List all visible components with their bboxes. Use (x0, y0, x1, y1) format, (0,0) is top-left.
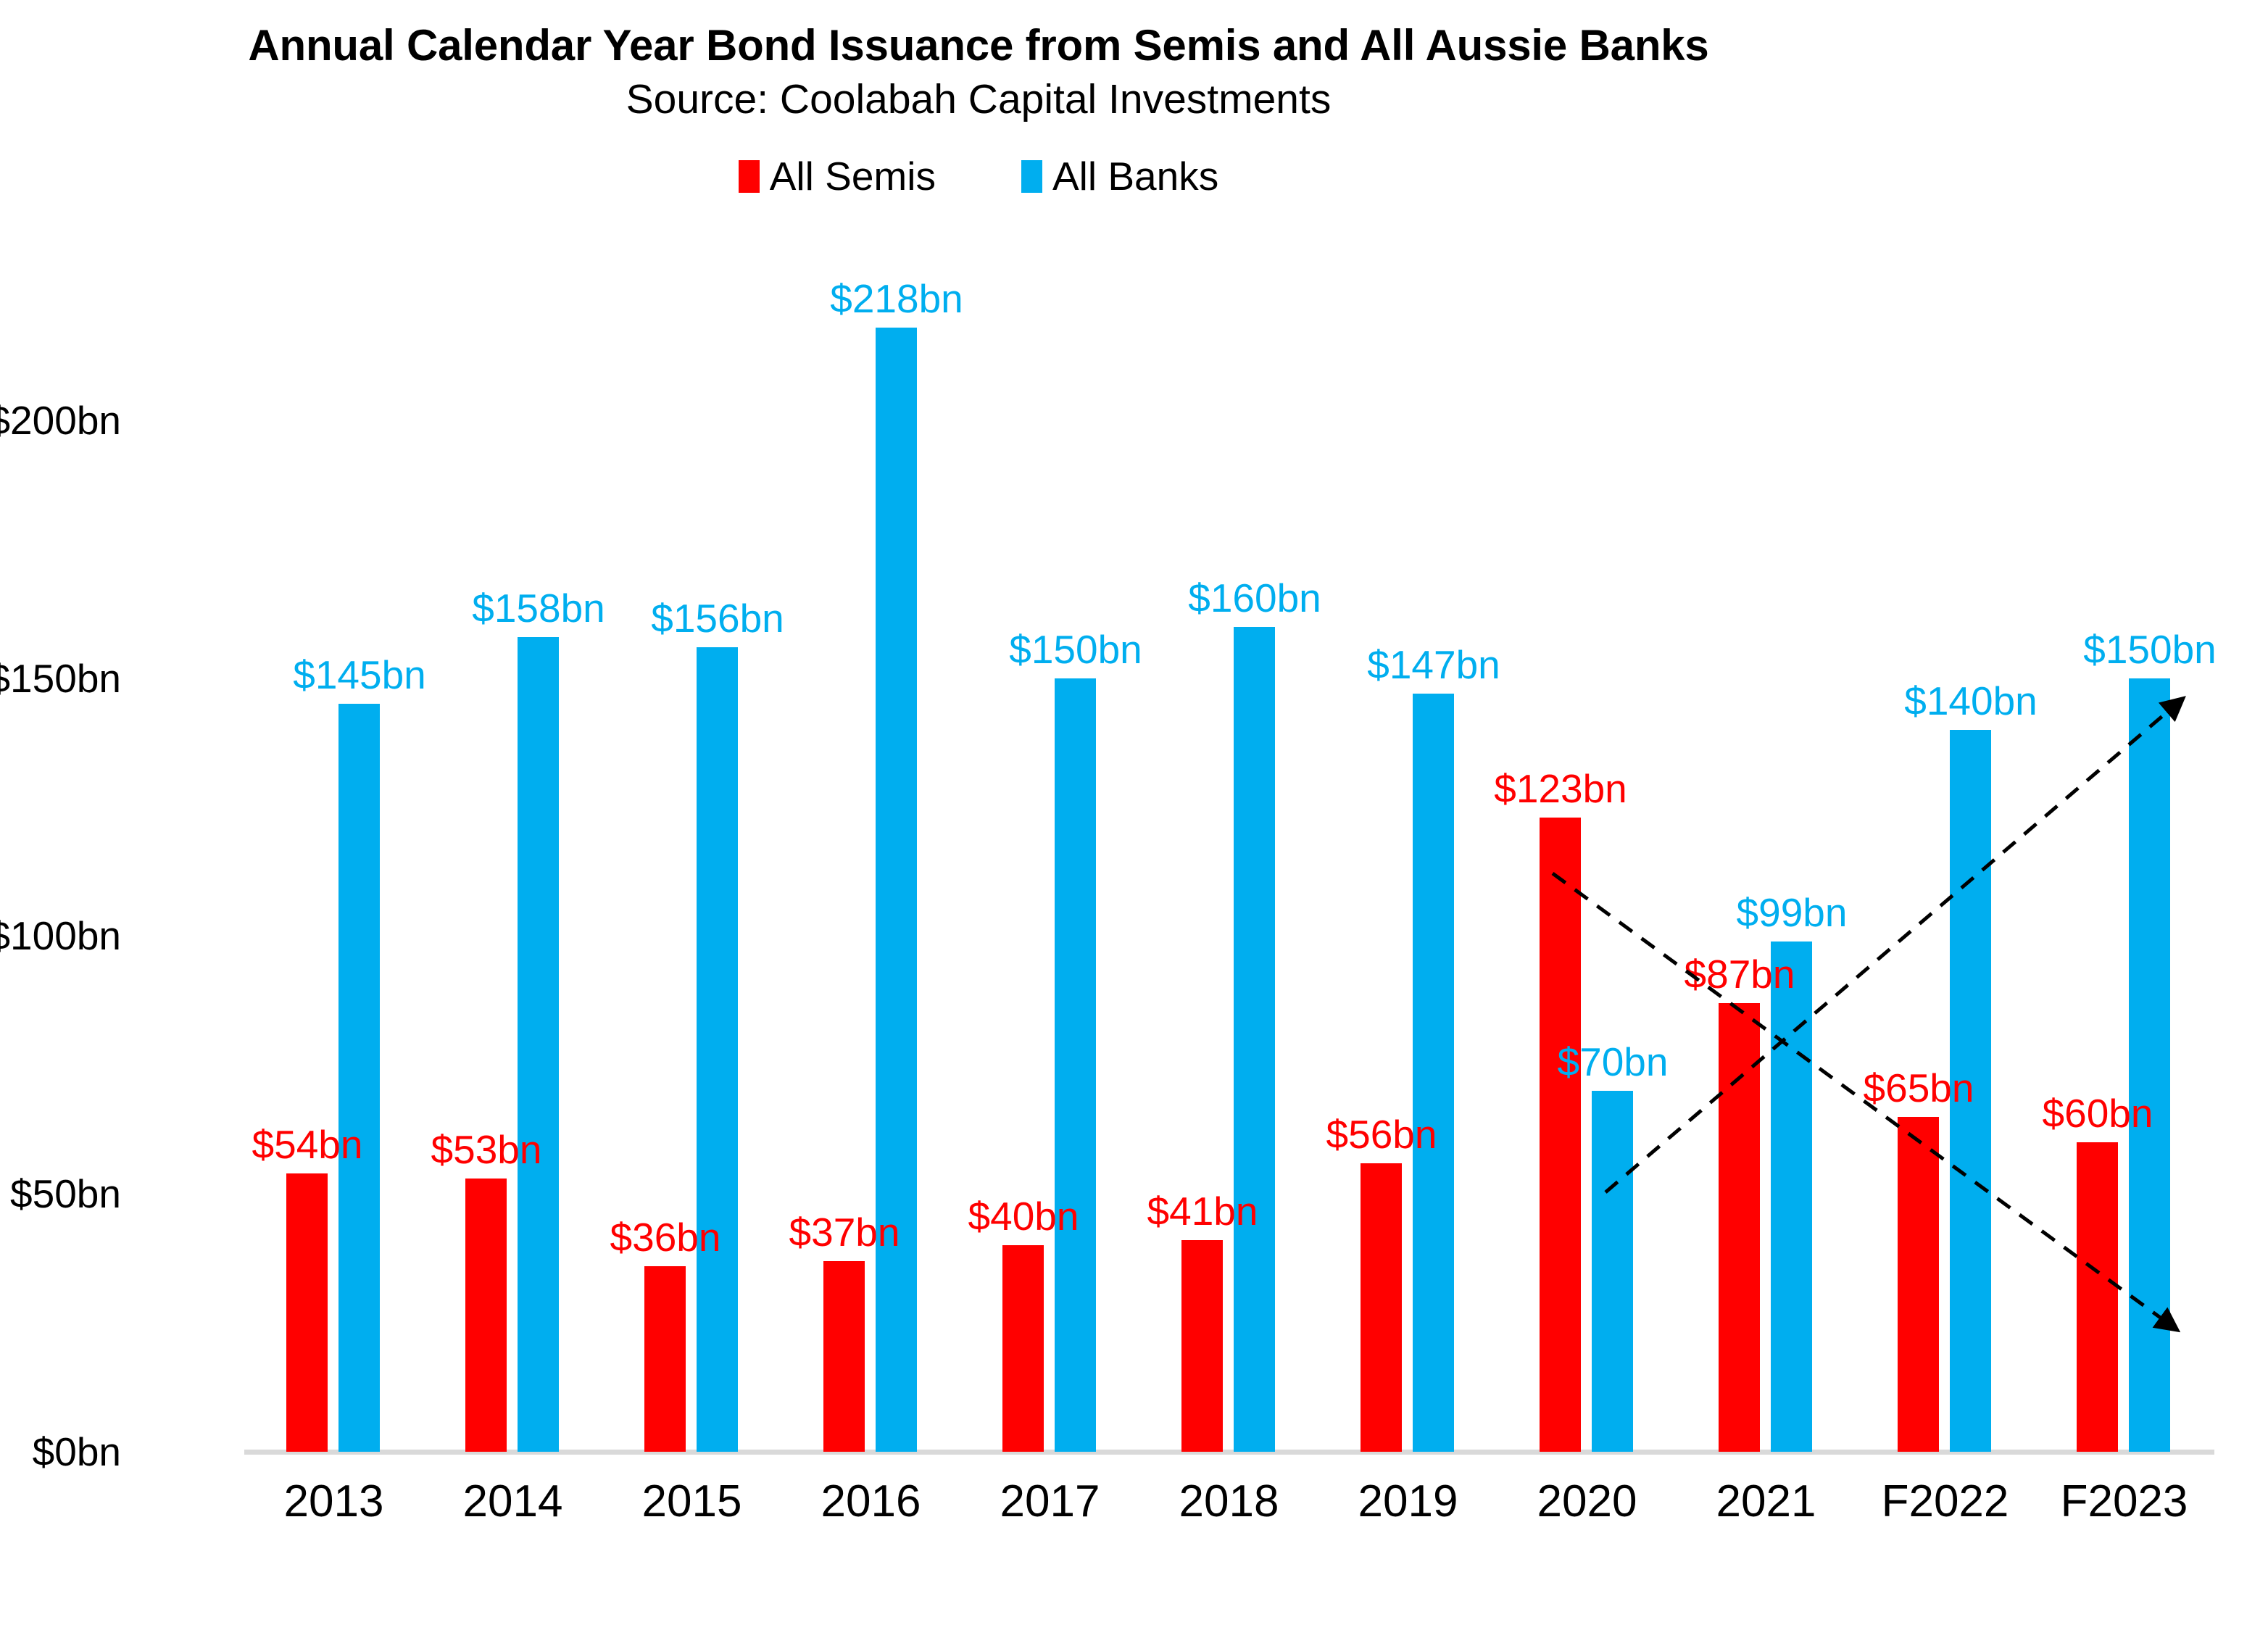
y-tick-50: $50bn (0, 1174, 121, 1214)
bar-banks-f2023[interactable] (2129, 678, 2170, 1452)
bar-banks-2018[interactable] (1234, 627, 1275, 1452)
x-tick-2017: 2017 (960, 1479, 1139, 1524)
bar-group-2013: $54bn $145bn (244, 420, 423, 1452)
bar-semis-2020[interactable] (1540, 818, 1581, 1452)
bar-semis-2014[interactable] (465, 1179, 507, 1452)
bar-semis-2013[interactable] (286, 1173, 328, 1452)
bar-label-semis-2018: $41bn (1108, 1192, 1297, 1231)
bar-banks-2013[interactable] (338, 704, 380, 1452)
chart-page: Annual Calendar Year Bond Issuance from … (0, 0, 2268, 1646)
bar-group-f2023: $60bn $150bn (2035, 420, 2214, 1452)
x-tick-2020: 2020 (1498, 1479, 1677, 1524)
bar-group-2015: $36bn $156bn (602, 420, 781, 1452)
bar-label-semis-2019: $56bn (1287, 1115, 1476, 1155)
bar-label-semis-f2022: $65bn (1824, 1068, 2013, 1108)
bar-group-2018: $41bn $160bn (1139, 420, 1318, 1452)
bar-label-semis-2021: $87bn (1645, 955, 1834, 994)
bar-group-2017: $40bn $150bn (960, 420, 1139, 1452)
bar-banks-2015[interactable] (697, 647, 738, 1452)
x-tick-2021: 2021 (1677, 1479, 1856, 1524)
bar-label-semis-2014: $53bn (392, 1130, 581, 1170)
bar-banks-2014[interactable] (518, 637, 559, 1452)
bar-banks-2020[interactable] (1592, 1091, 1633, 1452)
bar-banks-2016[interactable] (876, 328, 917, 1452)
y-tick-150: $150bn (0, 659, 121, 699)
bar-label-semis-2020: $123bn (1466, 769, 1655, 809)
plot-area: $0bn $50bn $100bn $150bn $200bn $54bn $1… (0, 0, 2268, 1646)
bar-group-2019: $56bn $147bn (1318, 420, 1498, 1452)
x-tick-2014: 2014 (423, 1479, 602, 1524)
bar-group-2014: $53bn $158bn (423, 420, 602, 1452)
bar-label-semis-2013: $54bn (213, 1125, 402, 1165)
bar-semis-2021[interactable] (1719, 1003, 1760, 1452)
x-tick-2013: 2013 (244, 1479, 423, 1524)
bar-group-2020: $123bn $70bn (1498, 420, 1677, 1452)
bar-label-semis-f2023: $60bn (2003, 1094, 2192, 1134)
bar-semis-2018[interactable] (1181, 1240, 1223, 1452)
bar-banks-2017[interactable] (1055, 678, 1096, 1452)
bar-group-f2022: $65bn $140bn (1856, 420, 2035, 1452)
bar-semis-2019[interactable] (1361, 1163, 1402, 1452)
bar-semis-2015[interactable] (644, 1266, 686, 1452)
bar-label-semis-2017: $40bn (929, 1197, 1118, 1236)
bar-group-2016: $37bn $218bn (781, 420, 960, 1452)
bar-label-banks-2016: $218bn (802, 279, 991, 319)
bar-group-2021: $87bn $99bn (1677, 420, 1856, 1452)
x-tick-f2023: F2023 (2035, 1479, 2214, 1524)
bar-banks-2021[interactable] (1771, 942, 1812, 1452)
y-tick-100: $100bn (0, 916, 121, 956)
bar-label-semis-2015: $36bn (571, 1218, 760, 1258)
bar-semis-2017[interactable] (1002, 1245, 1044, 1452)
x-tick-2019: 2019 (1318, 1479, 1498, 1524)
bar-label-banks-f2023: $150bn (2056, 630, 2244, 670)
y-tick-0: $0bn (0, 1432, 121, 1472)
x-tick-2016: 2016 (781, 1479, 960, 1524)
bar-banks-2019[interactable] (1413, 694, 1454, 1452)
bar-label-semis-2016: $37bn (750, 1213, 939, 1252)
bar-semis-f2023[interactable] (2077, 1142, 2118, 1452)
x-tick-2018: 2018 (1139, 1479, 1318, 1524)
x-tick-f2022: F2022 (1856, 1479, 2035, 1524)
x-tick-2015: 2015 (602, 1479, 781, 1524)
bar-semis-2016[interactable] (823, 1261, 865, 1452)
bar-semis-f2022[interactable] (1898, 1117, 1939, 1452)
y-tick-200: $200bn (0, 401, 121, 441)
